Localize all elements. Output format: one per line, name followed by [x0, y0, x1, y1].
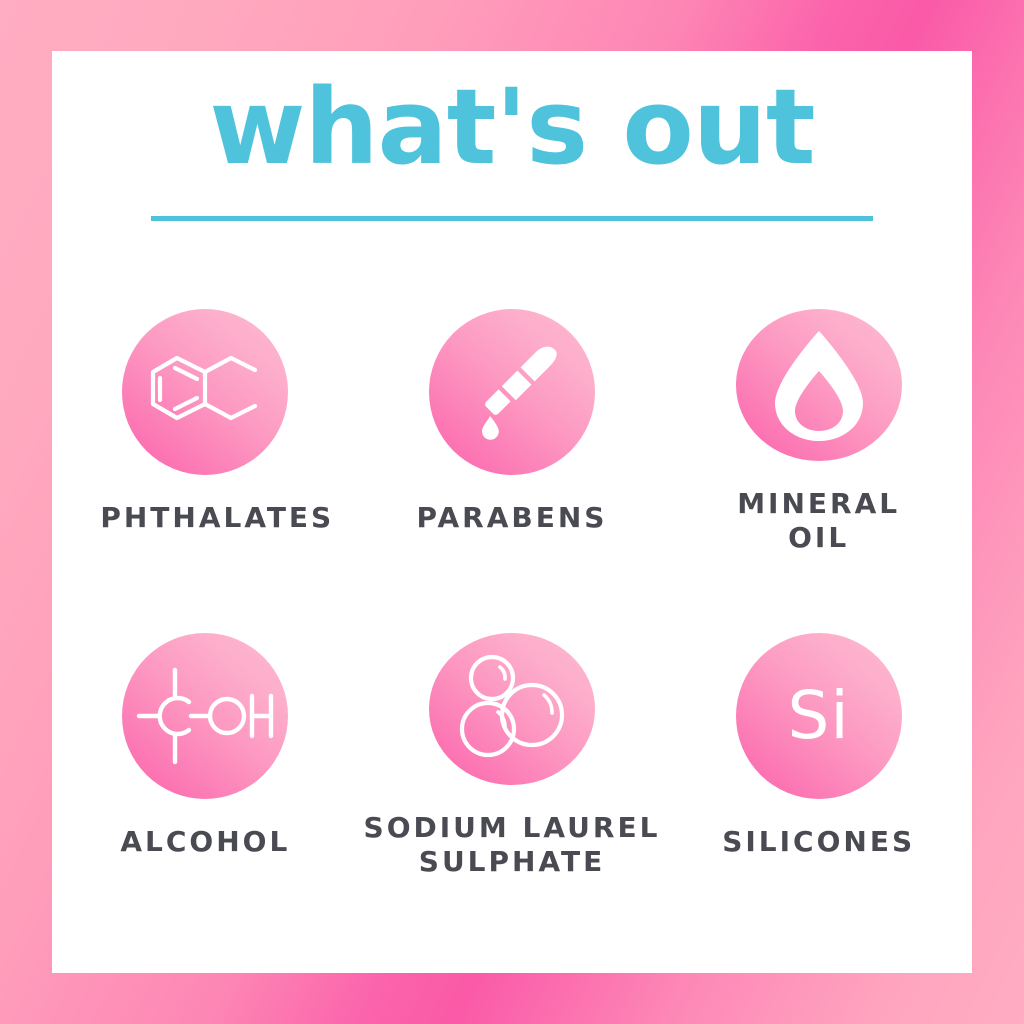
- title-divider: [151, 216, 873, 221]
- badge-sls: [429, 633, 595, 785]
- ingredient-label-alcohol: ALCOHOL: [120, 825, 290, 859]
- ingredient-item-alcohol[interactable]: ALCOHOL: [52, 633, 359, 879]
- ingredient-item-phthalates[interactable]: PHTHALATES: [52, 309, 359, 555]
- ingredient-label-parabens: PARABENS: [417, 501, 608, 535]
- page-title: what's out: [52, 73, 972, 182]
- ingredient-item-silicones[interactable]: Si SILICONES: [665, 633, 972, 879]
- ingredient-label-sls: SODIUM LAUREL SULPHATE: [359, 811, 666, 879]
- badge-silicones: Si: [736, 633, 902, 799]
- ingredient-item-mineral-oil[interactable]: MINERAL OIL: [665, 309, 972, 555]
- header: what's out: [52, 51, 972, 221]
- ingredient-label-mineral-oil: MINERAL OIL: [714, 487, 924, 555]
- silicon-symbol-icon: Si: [788, 683, 850, 749]
- badge-alcohol: [122, 633, 288, 799]
- dropper-icon: [458, 338, 566, 446]
- poster-frame: what's out: [0, 0, 1024, 1024]
- oil-droplet-icon: [769, 327, 869, 443]
- bubbles-icon: [456, 653, 568, 765]
- alcohol-formula-icon: [135, 662, 275, 770]
- badge-parabens: [429, 309, 595, 475]
- content-card: what's out: [52, 51, 972, 973]
- badge-mineral-oil: [736, 309, 902, 461]
- ingredient-item-parabens[interactable]: PARABENS: [359, 309, 666, 555]
- ingredient-label-silicones: SILICONES: [722, 825, 915, 859]
- ingredient-grid: PHTHALATES: [52, 309, 972, 879]
- badge-phthalates: [122, 309, 288, 475]
- ingredient-label-phthalates: PHTHALATES: [100, 501, 310, 535]
- benzene-rings-icon: [149, 346, 261, 438]
- ingredient-item-sls[interactable]: SODIUM LAUREL SULPHATE: [359, 633, 666, 879]
